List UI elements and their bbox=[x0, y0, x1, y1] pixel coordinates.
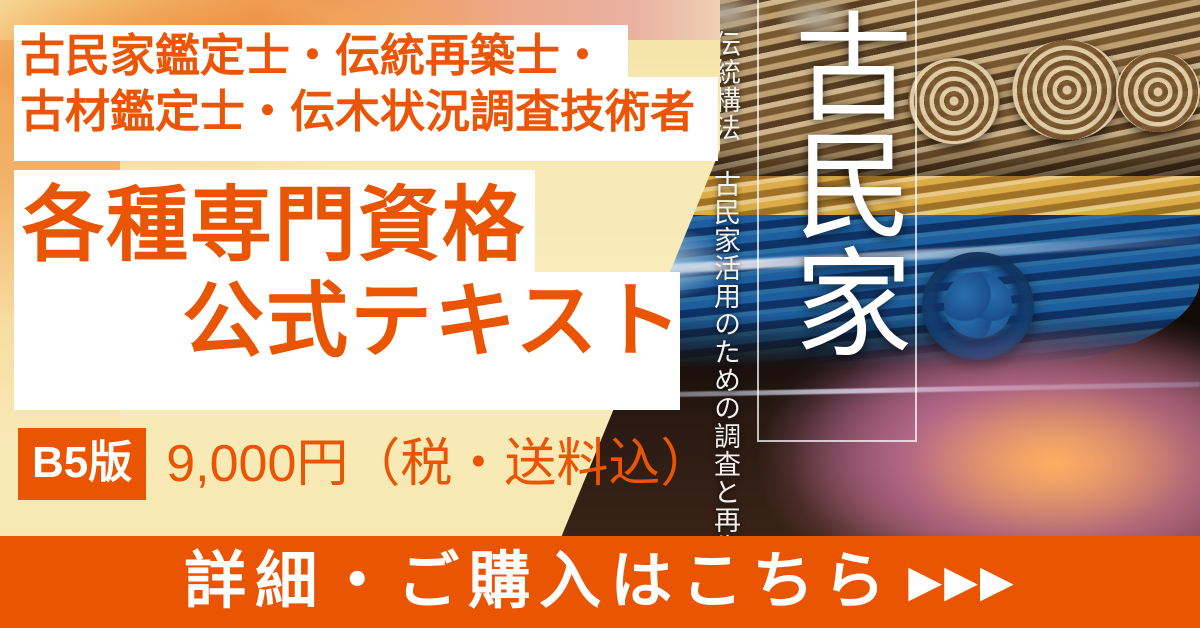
price-value: 9,000円（税・送料込） bbox=[166, 438, 712, 490]
chevron-right-icon: ▶▶▶ bbox=[908, 560, 1016, 604]
format-badge: B5版 bbox=[18, 428, 146, 500]
headline-line-1: 古民家鑑定士・伝統再築士・ bbox=[20, 28, 720, 84]
carving-curl-icon bbox=[1116, 52, 1200, 132]
title-line-1: 各種専門資格 bbox=[22, 180, 526, 271]
price-row: B5版 9,000円（税・送料込） bbox=[18, 428, 712, 500]
promo-banner: 古民家 伝統構法 古民家活用のための調査と再生の 古民家鑑定士・伝統再築士・ 古… bbox=[0, 0, 1200, 628]
cover-title-vertical: 古民家 bbox=[760, 6, 910, 430]
carving-curl-icon bbox=[1012, 40, 1122, 140]
headline-line-2: 古材鑑定士・伝木状況調査技術者 bbox=[20, 84, 720, 140]
carving-curl-icon bbox=[908, 58, 1000, 144]
page-title: 各種専門資格 公式テキスト bbox=[22, 178, 702, 370]
cta-button[interactable]: 詳細・ご購入はこちら ▶▶▶ bbox=[0, 536, 1200, 628]
title-line-2: 公式テキスト bbox=[22, 274, 702, 370]
cta-label: 詳細・ご購入はこちら bbox=[184, 551, 894, 613]
qualifications-headline: 古民家鑑定士・伝統再築士・ 古材鑑定士・伝木状況調査技術者 bbox=[20, 28, 720, 140]
